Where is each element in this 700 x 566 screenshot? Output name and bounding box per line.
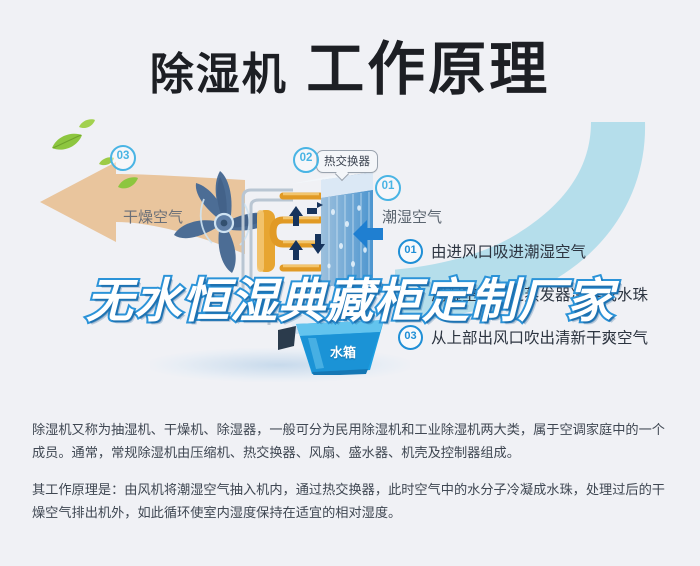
caption-water-tank: 水箱 [330, 342, 356, 361]
heat-exchanger-callout-label: 热交换器 [324, 156, 370, 168]
page-title-part-two: 工作原理 [306, 37, 550, 102]
paragraph-two: 其工作原理是：由风机将潮湿空气抽入机内，通过热交换器，此时空气中的水分子冷凝成水… [32, 478, 674, 524]
overlay-headline-text: 无水恒湿典藏柜定制厂家 [86, 274, 614, 327]
leaf-icon [78, 118, 96, 131]
caption-humid-air: 潮湿空气 [382, 206, 442, 227]
page-title: 除湿机 工作原理 [0, 22, 700, 106]
body-text: 除湿机又称为抽湿机、干燥机、除湿器，一般可分为民用除湿机和工业除湿机两大类，属于… [32, 418, 674, 538]
overlay-headline: 无水恒湿典藏柜定制厂家 [0, 262, 700, 331]
legend-text-01: 由进风口吸进潮湿空气 [431, 240, 586, 262]
heat-exchanger-callout: 热交换器 [316, 150, 378, 173]
caption-dry-air: 干燥空气 [123, 206, 183, 227]
leaf-icon [50, 132, 84, 154]
diagram-badge-01: 01 [375, 175, 401, 201]
leaf-icon [117, 176, 139, 192]
dehumidifier-infographic: 除湿机 工作原理 [0, 0, 700, 566]
legend-badge-01: 01 [398, 239, 423, 264]
diagram-badge-03: 03 [110, 145, 136, 171]
diagram-badge-02: 02 [293, 147, 319, 173]
page-title-part-one: 除湿机 [150, 50, 288, 99]
legend-item: 01 由进风口吸进潮湿空气 [398, 240, 688, 262]
paragraph-one: 除湿机又称为抽湿机、干燥机、除湿器，一般可分为民用除湿机和工业除湿机两大类，属于… [32, 418, 674, 464]
